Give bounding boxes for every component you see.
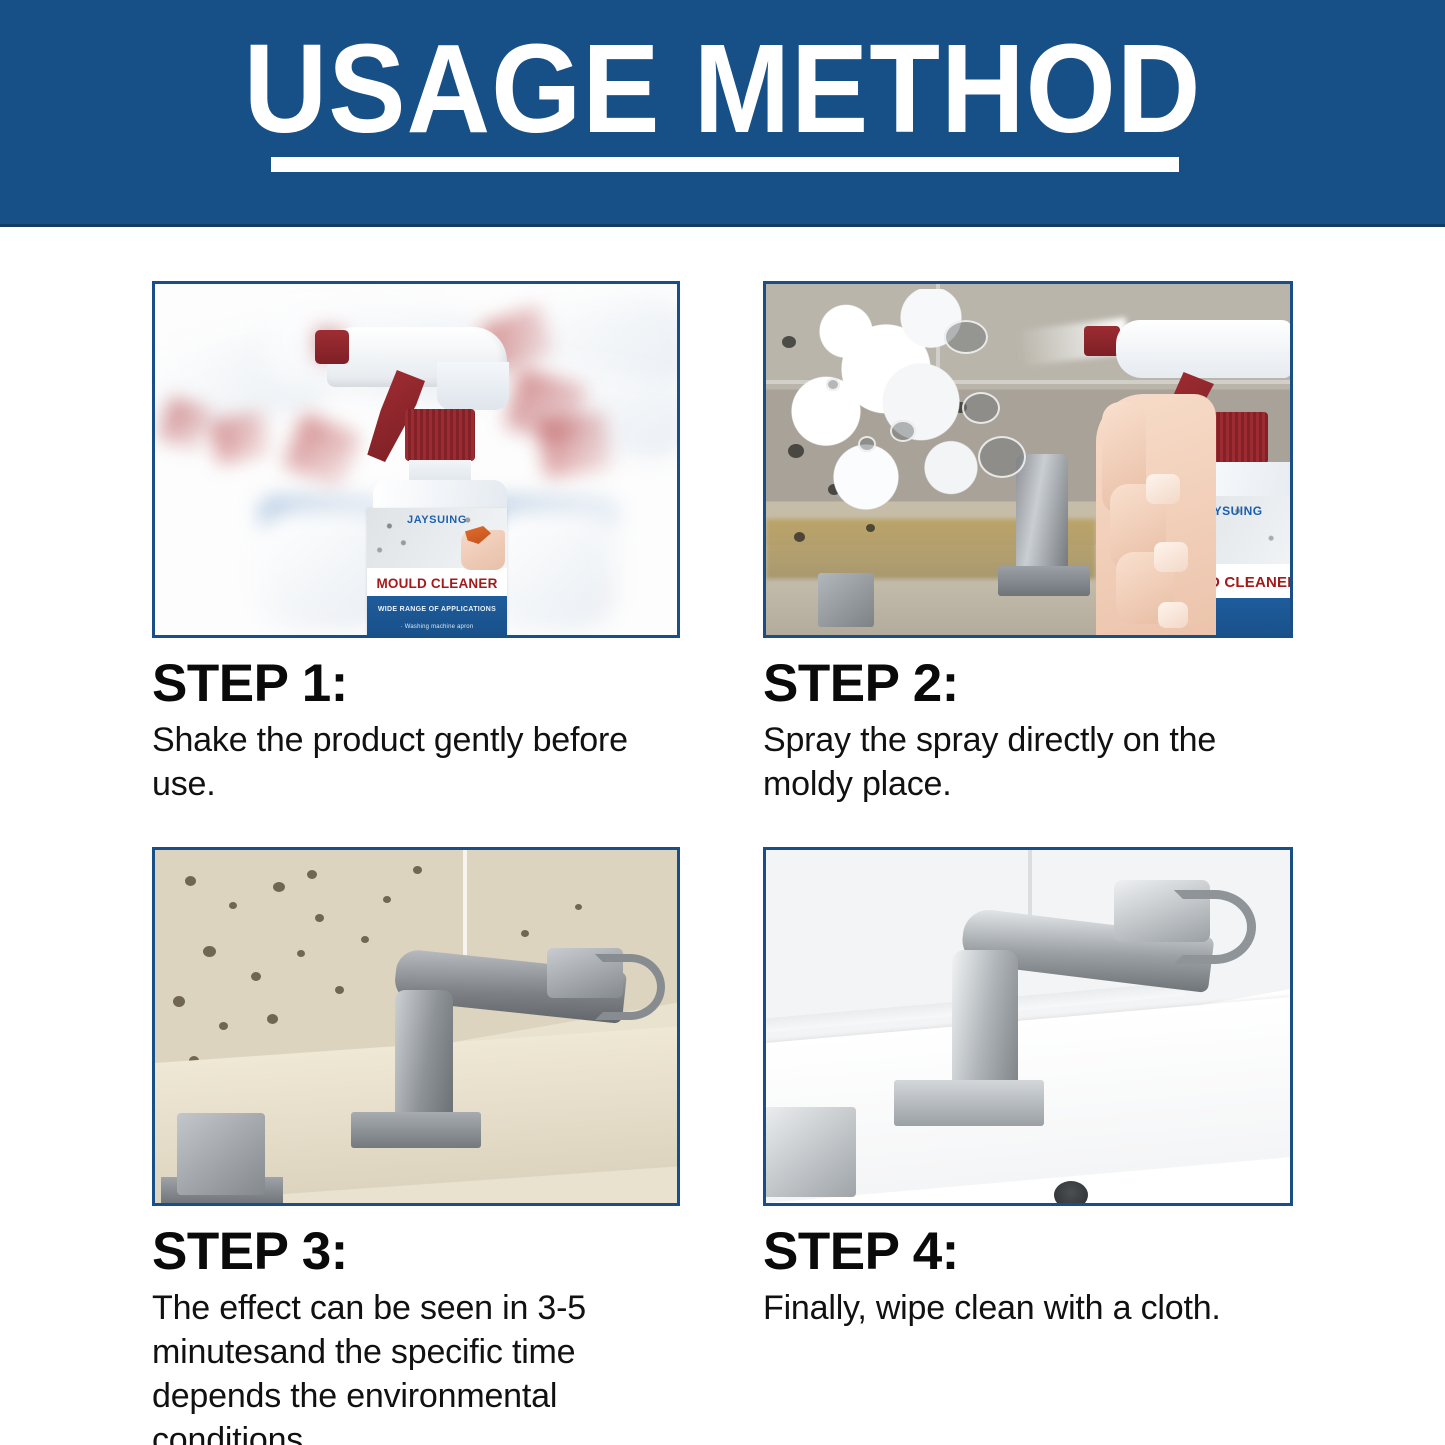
step-3-title: STEP 3:: [152, 1224, 680, 1280]
label-blue-panel: WIDE RANGE OF APPLICATIONS · Washing mac…: [367, 596, 507, 638]
faucet-knob: [766, 1107, 856, 1197]
step-4-title: STEP 4:: [763, 1224, 1293, 1280]
fingernail-3: [1158, 602, 1188, 628]
faucet-base: [998, 566, 1090, 596]
fingernail-2: [1154, 542, 1188, 572]
fingernail-1: [1146, 474, 1180, 504]
trigger-neck: [437, 362, 509, 410]
step-2-description: Spray the spray directly on the moldy pl…: [763, 718, 1293, 806]
step-3-photo-frame: [152, 847, 680, 1206]
photo-shake-bottle: JAYSUING MOULD CLEANER WIDE RANGE OF APP…: [155, 284, 677, 635]
label-application-item: · Washing machine apron: [367, 624, 507, 630]
drain-hole: [1054, 1181, 1088, 1203]
step-1-description: Shake the product gently before use.: [152, 718, 680, 806]
spray-head: [1116, 320, 1290, 378]
photo-clean-faucet: [766, 850, 1290, 1203]
label-product-name: MOULD CLEANER: [367, 576, 507, 591]
usage-method-infographic: USAGE METHOD: [0, 0, 1445, 1445]
faucet-riser-base: [351, 1112, 481, 1148]
tile-seam: [1028, 850, 1032, 920]
header-banner: USAGE METHOD: [0, 0, 1445, 227]
faucet-handle-loop: [595, 954, 665, 1020]
step-2-title: STEP 2:: [763, 656, 1293, 712]
step-3-description: The effect can be seen in 3-5 minutesand…: [152, 1286, 680, 1445]
label-applications-heading: WIDE RANGE OF APPLICATIONS: [367, 606, 507, 613]
trigger-nozzle: [315, 330, 349, 364]
title-underline: [271, 157, 1179, 172]
step-4-description: Finally, wipe clean with a cloth.: [763, 1286, 1293, 1330]
faucet-handle-loop: [1174, 890, 1256, 964]
label-brand: JAYSUING: [367, 514, 507, 526]
photo-spray-on-mold: JAYSUING MOULD CLEANER: [766, 284, 1290, 635]
product-label: JAYSUING MOULD CLEANER WIDE RANGE OF APP…: [367, 508, 507, 638]
faucet-riser: [952, 950, 1018, 1090]
photo-dirty-faucet: [155, 850, 677, 1203]
faucet-knob: [818, 573, 874, 627]
step-card-3: STEP 3: The effect can be seen in 3-5 mi…: [152, 847, 680, 1445]
step-1-photo-frame: JAYSUING MOULD CLEANER WIDE RANGE OF APP…: [152, 281, 680, 638]
step-2-photo-frame: JAYSUING MOULD CLEANER: [763, 281, 1293, 638]
tile-seam: [463, 850, 467, 968]
faucet-knob: [177, 1113, 265, 1195]
step-card-4: STEP 4: Finally, wipe clean with a cloth…: [763, 847, 1293, 1330]
page-title: USAGE METHOD: [58, 26, 1387, 152]
step-1-title: STEP 1:: [152, 656, 680, 712]
bottle-cap: [405, 409, 475, 461]
step-card-1: JAYSUING MOULD CLEANER WIDE RANGE OF APP…: [152, 281, 680, 806]
faucet-riser: [395, 990, 453, 1120]
steps-grid: JAYSUING MOULD CLEANER WIDE RANGE OF APP…: [0, 227, 1445, 1445]
spray-nozzle: [1084, 326, 1120, 356]
step-card-2: JAYSUING MOULD CLEANER STEP 2: Spray the…: [763, 281, 1293, 806]
faucet-riser-base: [894, 1080, 1044, 1126]
step-4-photo-frame: [763, 847, 1293, 1206]
